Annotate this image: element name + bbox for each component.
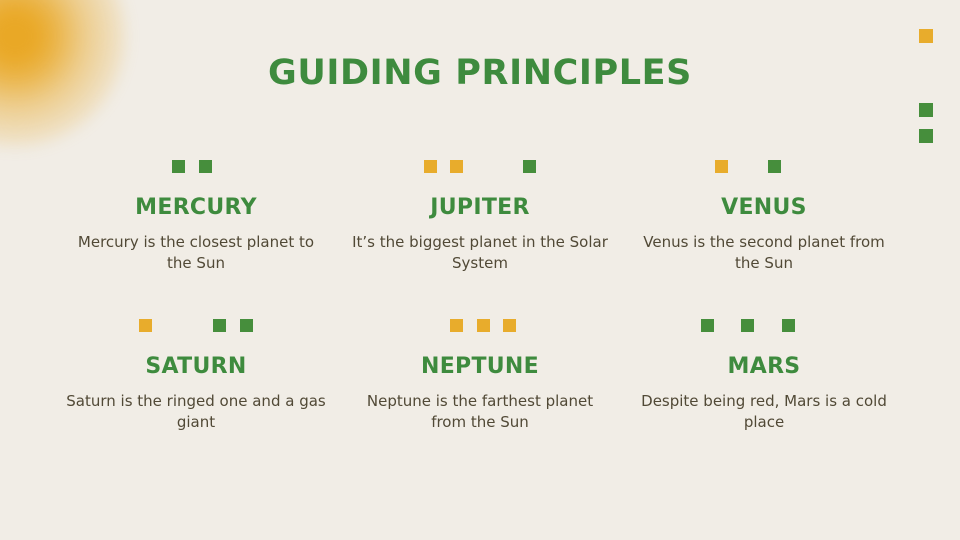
card-title-mercury: MERCURY [46,195,346,221]
dot-row-mars [614,319,914,332]
card-title-venus: VENUS [614,195,914,221]
square-green-icon [768,160,781,173]
dot-row-venus [614,160,914,173]
square-yellow-icon [715,160,728,173]
dot-row-neptune [330,319,630,332]
card-title-jupiter: JUPITER [330,195,630,221]
square-green-icon [240,319,253,332]
square-green-icon [213,319,226,332]
square-green-icon [172,160,185,173]
principle-card-mars: MARSDespite being red, Mars is a cold pl… [614,319,914,433]
card-body-venus: Venus is the second planet from the Sun [634,232,894,274]
card-title-mars: MARS [614,354,914,380]
card-title-saturn: SATURN [46,354,346,380]
square-green-icon [741,319,754,332]
principle-card-saturn: SATURNSaturn is the ringed one and a gas… [46,319,346,433]
edge-square-green-2 [919,129,933,143]
card-title-neptune: NEPTUNE [330,354,630,380]
card-body-mercury: Mercury is the closest planet to the Sun [66,232,326,274]
dot-row-saturn [46,319,346,332]
card-body-jupiter: It’s the biggest planet in the Solar Sys… [350,232,610,274]
square-yellow-icon [139,319,152,332]
square-green-icon [523,160,536,173]
card-body-neptune: Neptune is the farthest planet from the … [350,391,610,433]
card-body-saturn: Saturn is the ringed one and a gas giant [66,391,326,433]
square-green-icon [782,319,795,332]
card-body-mars: Despite being red, Mars is a cold place [634,391,894,433]
dot-row-mercury [46,160,346,173]
edge-square-yellow-1 [919,29,933,43]
slide-canvas: GUIDING PRINCIPLES MERCURYMercury is the… [0,0,960,540]
principle-card-mercury: MERCURYMercury is the closest planet to … [46,160,346,274]
dot-row-jupiter [330,160,630,173]
square-yellow-icon [503,319,516,332]
square-green-icon [199,160,212,173]
square-yellow-icon [450,160,463,173]
square-yellow-icon [424,160,437,173]
principle-card-neptune: NEPTUNENeptune is the farthest planet fr… [330,319,630,433]
square-yellow-icon [450,319,463,332]
principle-card-jupiter: JUPITERIt’s the biggest planet in the So… [330,160,630,274]
square-yellow-icon [477,319,490,332]
edge-square-green-1 [919,103,933,117]
principle-card-venus: VENUSVenus is the second planet from the… [614,160,914,274]
page-title: GUIDING PRINCIPLES [0,51,960,95]
square-green-icon [701,319,714,332]
